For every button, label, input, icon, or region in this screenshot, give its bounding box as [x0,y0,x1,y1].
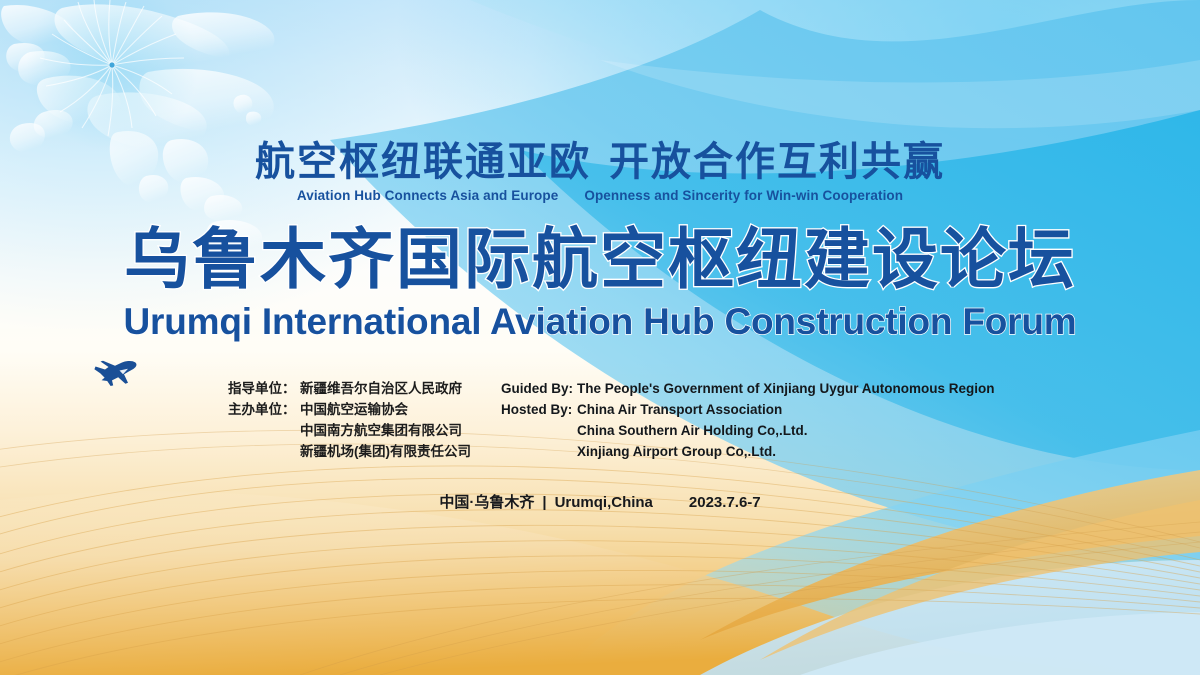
conference-banner: 航空枢纽联通亚欧开放合作互利共赢 Aviation Hub Connects A… [0,0,1200,675]
credits-cn-hosted-value: 中国航空运输协会 [300,399,471,420]
tagline-cn-left: 航空枢纽联通亚欧 [255,140,591,184]
credits-chinese: 指导单位： 新疆维吾尔自治区人民政府 主办单位： 中国航空运输协会 中国南方航空… [228,378,471,462]
credits-en-hosted-label: Hosted By: [501,399,577,462]
airplane-icon [92,356,144,388]
footer-info: 中国·乌鲁木齐|Urumqi,China2023.7.6-7 [0,491,1200,512]
credits-cn-guided-label: 指导单位： [228,378,300,399]
credits-cn-hosted-value: 新疆机场(集团)有限责任公司 [300,441,471,462]
footer-dates: 2023.7.6-7 [689,494,761,511]
tagline-en-left: Aviation Hub Connects Asia and Europe [297,188,558,203]
tagline-chinese: 航空枢纽联通亚欧开放合作互利共赢 [0,140,1200,185]
tagline-en-right: Openness and Sincerity for Win-win Coope… [584,188,903,203]
footer-location-en: Urumqi,China [555,494,653,511]
tagline-english: Aviation Hub Connects Asia and EuropeOpe… [0,188,1200,203]
credits-cn-hosted: 主办单位： 中国航空运输协会 中国南方航空集团有限公司 新疆机场(集团)有限责任… [228,399,471,462]
credits-en-hosted: Hosted By: China Air Transport Associati… [501,399,995,462]
credits-cn-guided: 指导单位： 新疆维吾尔自治区人民政府 [228,378,471,399]
footer-divider: | [542,494,546,511]
tagline-cn-right: 开放合作互利共赢 [609,140,945,184]
title-english: Urumqi International Aviation Hub Constr… [0,301,1200,343]
credits-en-guided: Guided By: The People's Government of Xi… [501,378,995,399]
credits-en-hosted-value: China Air Transport Association [577,399,807,420]
credits-en-guided-value: The People's Government of Xinjiang Uygu… [577,378,995,399]
credits-cn-hosted-label: 主办单位： [228,399,300,462]
credits-english: Guided By: The People's Government of Xi… [501,378,995,462]
footer-location-cn: 中国·乌鲁木齐 [439,494,534,511]
credits-en-guided-label: Guided By: [501,378,577,399]
title-chinese: 乌鲁木齐国际航空枢纽建设论坛 [0,224,1200,295]
credits-en-hosted-value: Xinjiang Airport Group Co,.Ltd. [577,441,807,462]
credits-cn-guided-value: 新疆维吾尔自治区人民政府 [300,378,462,399]
tagline: 航空枢纽联通亚欧开放合作互利共赢 Aviation Hub Connects A… [0,140,1200,203]
credits-en-hosted-value: China Southern Air Holding Co,.Ltd. [577,420,807,441]
credits-cn-hosted-value: 中国南方航空集团有限公司 [300,420,471,441]
page-title: 乌鲁木齐国际航空枢纽建设论坛 Urumqi International Avia… [0,224,1200,343]
